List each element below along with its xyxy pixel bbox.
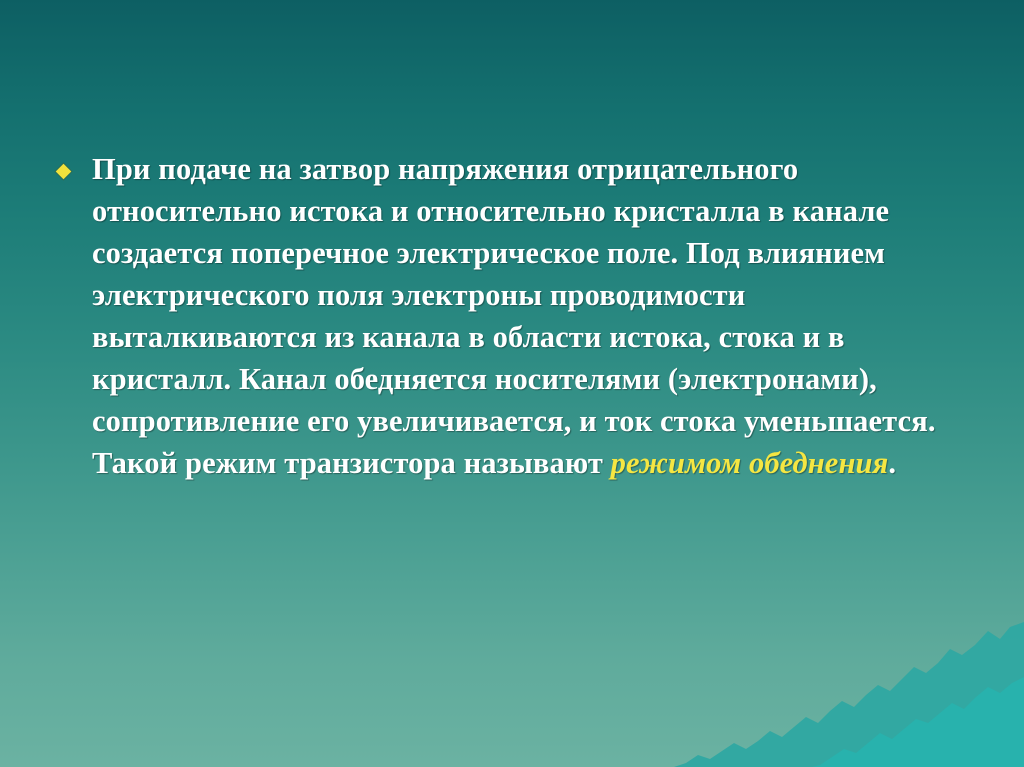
diamond-bullet-icon: [58, 148, 92, 182]
slide: При подаче на затвор напряжения отрицате…: [0, 0, 1024, 767]
bullet-text-emphasis: режимом обеднения: [611, 446, 889, 480]
slide-content: При подаче на затвор напряжения отрицате…: [0, 0, 1024, 767]
bullet-text-main: При подаче на затвор напряжения отрицате…: [92, 152, 936, 480]
bullet-list-item: При подаче на затвор напряжения отрицате…: [58, 148, 963, 484]
bullet-text-block: При подаче на затвор напряжения отрицате…: [92, 148, 963, 484]
bullet-text-tail: .: [888, 446, 896, 480]
